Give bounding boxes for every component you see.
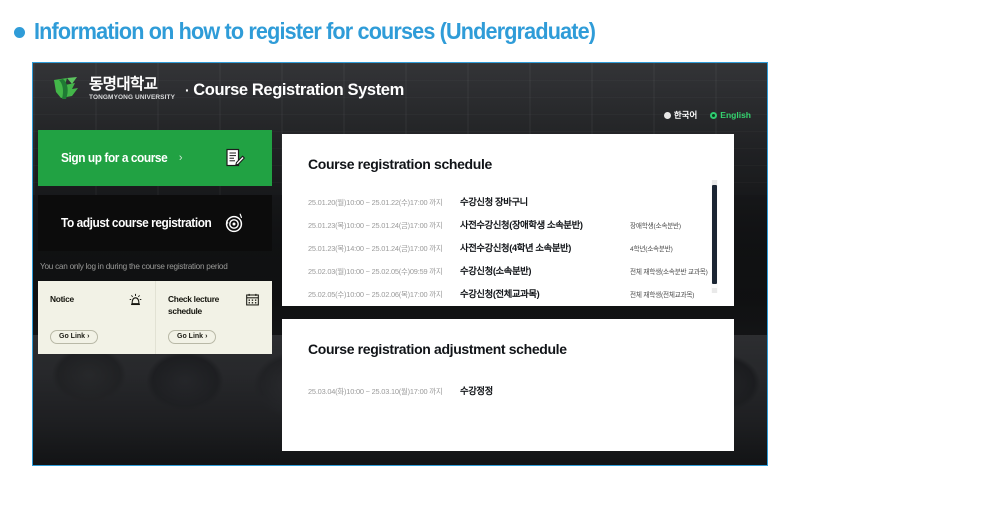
lecture-schedule-card-title: Check lecture schedule [168,293,240,317]
lecture-schedule-go-link-label: Go Link [177,333,203,340]
notice-go-link-label: Go Link [59,333,85,340]
schedule-panel-title: Course registration schedule [282,156,734,172]
schedule-name: 수강정정 [460,383,630,397]
schedule-name: 수강신청 장바구니 [460,194,630,208]
language-label-english: English [720,110,751,120]
schedule-target: 전체 재학생(소속분반 교과목) [630,266,708,276]
radio-unselected-icon[interactable] [664,112,671,119]
brand-block[interactable]: 동명대학교 TONGMYONG UNIVERSITY [51,74,175,104]
university-name-en: TONGMYONG UNIVERSITY [89,95,175,102]
target-icon [224,212,246,234]
sign-up-for-course-button[interactable]: Sign up for a course › [38,130,272,186]
language-switcher[interactable]: 한국어 English [664,109,751,121]
radio-selected-icon[interactable] [710,112,717,119]
adjustment-row-list: 25.03.04(화)10:00 ~ 25.03.10(월)17:00 까지 수… [282,383,734,406]
schedule-panels: Course registration schedule 25.01.20(월)… [282,134,734,451]
schedule-row-list: 25.01.20(월)10:00 ~ 25.01.22(수)17:00 까지 수… [282,194,734,309]
site-header: 동명대학교 TONGMYONG UNIVERSITY ·Course Regis… [33,63,767,129]
scrollbar-thumb[interactable] [712,185,717,284]
schedule-row: 25.03.04(화)10:00 ~ 25.03.10(월)17:00 까지 수… [308,383,724,406]
schedule-target: 4학년(소속분반) [630,243,673,253]
notice-card-title: Notice [50,293,122,305]
schedule-target: 전체 재학생(전체교과목) [630,289,694,299]
language-option-korean[interactable]: 한국어 [664,109,697,121]
login-period-note: You can only log in during the course re… [38,262,274,271]
course-registration-schedule-panel: Course registration schedule 25.01.20(월)… [282,134,734,306]
embedded-screenshot: 동명대학교 TONGMYONG UNIVERSITY ·Course Regis… [32,62,768,466]
title-separator: · [185,82,189,98]
sign-up-button-label: Sign up for a course [61,151,167,165]
university-name-ko: 동명대학교 [89,77,175,93]
language-option-english[interactable]: English [710,110,751,120]
calendar-icon [245,292,260,307]
page-title-text: Information on how to register for cours… [34,18,595,45]
schedule-target: 장애학생(소속분반) [630,220,681,230]
tongmyong-leaf-logo-icon [51,74,81,104]
system-title-text: Course Registration System [193,81,404,99]
notice-go-link-button[interactable]: Go Link › [50,330,98,345]
schedule-name: 사전수강신청(장애학생 소속분반) [460,217,630,231]
schedule-name: 수강신청(전체교과목) [460,286,630,300]
language-label-korean: 한국어 [674,109,697,121]
document-pencil-icon [224,147,246,169]
scrollbar-arrow-down-icon[interactable] [712,288,717,293]
schedule-scrollbar[interactable] [711,180,718,293]
schedule-period: 25.01.23(목)14:00 ~ 25.01.24(금)17:00 까지 [308,243,460,254]
schedule-name: 사전수강신청(4학년 소속분반) [460,240,630,254]
adjust-course-registration-button[interactable]: To adjust course registration › [38,195,272,251]
siren-alarm-icon [128,292,143,307]
system-title: ·Course Registration System [185,81,404,100]
schedule-period: 25.01.23(목)10:00 ~ 25.01.24(금)17:00 까지 [308,220,460,231]
adjustment-panel-title: Course registration adjustment schedule [282,341,734,357]
schedule-row: 25.02.03(월)10:00 ~ 25.02.05(수)09:59 까지 수… [308,263,724,286]
adjust-button-label: To adjust course registration [61,216,211,230]
schedule-period: 25.02.03(월)10:00 ~ 25.02.05(수)09:59 까지 [308,266,460,277]
schedule-name: 수강신청(소속분반) [460,263,630,277]
schedule-row: 25.02.05(수)10:00 ~ 25.02.06(목)17:00 까지 수… [308,286,724,309]
chevron-right-icon: › [87,333,89,340]
schedule-period: 25.03.04(화)10:00 ~ 25.03.10(월)17:00 까지 [308,386,460,397]
lecture-schedule-card[interactable]: Check lecture schedule [155,281,272,354]
course-registration-adjustment-panel: Course registration adjustment schedule … [282,319,734,451]
schedule-row: 25.01.23(목)10:00 ~ 25.01.24(금)17:00 까지 사… [308,217,724,240]
chevron-right-icon: › [205,333,207,340]
schedule-row: 25.01.20(월)10:00 ~ 25.01.22(수)17:00 까지 수… [308,194,724,217]
bullet-dot-icon [14,27,25,38]
schedule-period: 25.02.05(수)10:00 ~ 25.02.06(목)17:00 까지 [308,289,460,300]
lecture-schedule-go-link-button[interactable]: Go Link › [168,330,216,345]
chevron-right-icon: › [179,152,183,164]
notice-card[interactable]: Notice Go Link › [38,281,155,354]
info-card-group: Notice Go Link › [38,281,272,354]
left-column: Sign up for a course › To adjust course … [38,130,274,354]
page-title: Information on how to register for cours… [14,14,631,48]
schedule-row: 25.01.23(목)14:00 ~ 25.01.24(금)17:00 까지 사… [308,240,724,263]
schedule-period: 25.01.20(월)10:00 ~ 25.01.22(수)17:00 까지 [308,197,460,208]
